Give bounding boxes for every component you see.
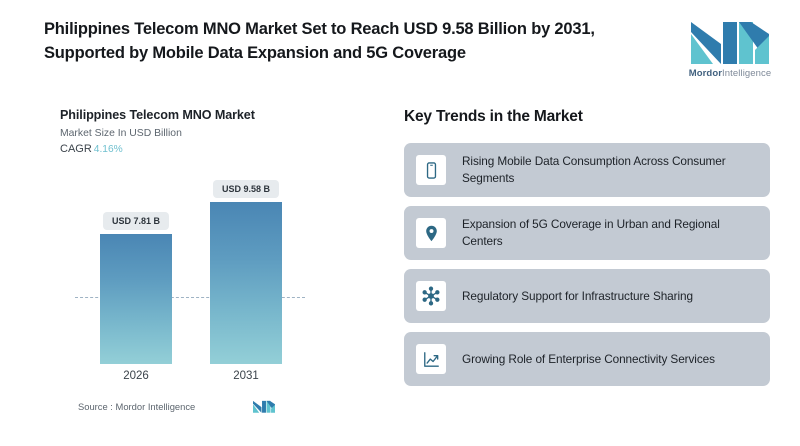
bar-2031	[210, 202, 282, 364]
page-header: Philippines Telecom MNO Market Set to Re…	[44, 18, 778, 90]
trend-card-mobile-data[interactable]: Rising Mobile Data Consumption Across Co…	[404, 143, 770, 197]
trend-card-label: Regulatory Support for Infrastructure Sh…	[462, 288, 693, 305]
line-chart-up-icon	[416, 344, 446, 374]
bar-value-label-2026: USD 7.81 B	[103, 212, 169, 230]
key-trends-panel: Key Trends in the Market Rising Mobile D…	[404, 108, 770, 395]
smartphone-icon	[416, 155, 446, 185]
logo-word-bold: Mordor	[689, 68, 722, 79]
cagr-value: 4.16%	[94, 144, 123, 155]
bar-group-2026: USD 7.81 B 2026	[100, 234, 172, 364]
trend-card-label: Growing Role of Enterprise Connectivity …	[462, 351, 715, 368]
trend-card-label: Rising Mobile Data Consumption Across Co…	[462, 153, 758, 187]
chart-footer: Source : Mordor Intelligence	[78, 400, 380, 413]
trend-card-infrastructure-sharing[interactable]: Regulatory Support for Infrastructure Sh…	[404, 269, 770, 323]
cagr-label: CAGR	[60, 143, 92, 155]
logo-wordmark: MordorIntelligence	[689, 68, 772, 79]
x-tick-2026: 2026	[123, 370, 149, 382]
infographic-page: Philippines Telecom MNO Market Set to Re…	[0, 0, 800, 446]
chart-cagr: CAGR4.16%	[60, 143, 390, 155]
network-hub-icon	[416, 281, 446, 311]
bar-group-2031: USD 9.58 B 2031	[210, 202, 282, 364]
brand-logo: MordorIntelligence	[682, 20, 778, 79]
market-size-chart: Philippines Telecom MNO Market Market Si…	[60, 108, 390, 428]
trend-card-5g-coverage[interactable]: Expansion of 5G Coverage in Urban and Re…	[404, 206, 770, 260]
logo-word-light: Intelligence	[722, 68, 771, 79]
mordor-logo-mark	[691, 20, 769, 64]
chart-title: Philippines Telecom MNO Market	[60, 108, 390, 122]
bar-2026	[100, 234, 172, 364]
location-pin-icon	[416, 218, 446, 248]
chart-plot-area: USD 7.81 B 2026 USD 9.58 B 2031	[60, 170, 390, 382]
page-title: Philippines Telecom MNO Market Set to Re…	[44, 18, 664, 66]
mordor-logo-mark-small	[253, 400, 275, 413]
bar-value-label-2031: USD 9.58 B	[213, 180, 279, 198]
trend-card-label: Expansion of 5G Coverage in Urban and Re…	[462, 216, 758, 250]
trend-card-enterprise-connectivity[interactable]: Growing Role of Enterprise Connectivity …	[404, 332, 770, 386]
x-tick-2031: 2031	[233, 370, 259, 382]
trends-heading: Key Trends in the Market	[404, 108, 770, 126]
chart-source-label: Source : Mordor Intelligence	[78, 401, 195, 412]
chart-subtitle: Market Size In USD Billion	[60, 128, 390, 139]
